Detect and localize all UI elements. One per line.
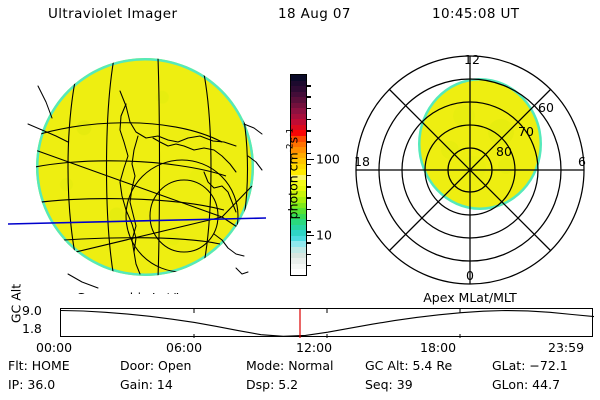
colorbar-tick-label: 100 <box>316 151 340 166</box>
status-door: Door: Open <box>120 358 191 373</box>
status-glon: GLon: 44.7 <box>492 377 560 392</box>
apex-polar-panel[interactable]: 12 18 6 0 60 70 80 Apex MLat/MLT <box>346 46 594 294</box>
colorbar-minor-tick <box>307 209 311 210</box>
colorbar-minor-tick <box>307 164 311 165</box>
status-dsp: Dsp: 5.2 <box>246 377 298 392</box>
observation-time: 10:45:08 UT <box>432 6 519 22</box>
colorbar-minor-tick <box>307 130 311 131</box>
mlt-label-bottom: 0 <box>466 268 474 283</box>
colorbar-unit-exp1: -2 <box>285 143 295 152</box>
colorbar-minor-tick <box>307 108 311 109</box>
status-row: Flt: HOME Door: Open Mode: Normal GC Alt… <box>0 358 600 376</box>
globe-overlay <box>8 46 266 294</box>
colorbar-minor-tick <box>307 175 311 176</box>
colorbar-minor-tick <box>307 220 311 221</box>
colorbar-minor-tick <box>307 265 311 266</box>
mlt-label-right: 6 <box>578 154 586 169</box>
colorbar-major-tick <box>307 235 314 236</box>
globe-caption-label: Geographic Lat/Lon <box>8 290 266 294</box>
colorbar-major-tick <box>307 159 314 160</box>
altitude-trace-svg <box>61 309 594 338</box>
colorbar-swatch <box>291 269 306 275</box>
colorbar-minor-tick <box>307 197 311 198</box>
colorbar-minor-tick <box>307 141 311 142</box>
colorbar-unit-base: photon cm <box>286 152 301 219</box>
status-glat: GLat: −72.1 <box>492 358 568 373</box>
alt-ytick-low: 1.8 <box>22 321 42 336</box>
altitude-strip-chart[interactable] <box>60 308 593 337</box>
lat-label-60: 60 <box>538 100 554 115</box>
status-gc-alt: GC Alt: 5.4 Re <box>365 358 452 373</box>
colorbar-axis-title: photon cm-2s-1 <box>285 99 300 249</box>
polar-plot <box>346 46 594 294</box>
status-block: Flt: HOME Door: Open Mode: Normal GC Alt… <box>0 358 600 398</box>
altitude-trace <box>61 311 594 337</box>
lat-label-70: 70 <box>518 124 534 139</box>
colorbar-tick-label: 10 <box>316 227 332 242</box>
colorbar-minor-tick <box>307 85 311 86</box>
alt-xaxis-labels: 00:0006:0012:0018:0023:59 <box>0 340 600 356</box>
status-mode: Mode: Normal <box>246 358 333 373</box>
alt-xtick-label: 23:59 <box>548 340 584 355</box>
header-bar: Ultraviolet Imager 18 Aug 07 10:45:08 UT <box>0 6 600 30</box>
geographic-globe-panel[interactable]: Geographic Lat/Lon <box>8 46 266 294</box>
status-seq: Seq: 39 <box>365 377 413 392</box>
alt-xaxis-ticks <box>194 309 460 338</box>
alt-xtick-label: 00:00 <box>36 340 72 355</box>
observation-date: 18 Aug 07 <box>278 6 351 22</box>
colorbar-minor-tick <box>307 254 311 255</box>
mlt-label-top: 12 <box>464 52 480 67</box>
polar-caption-label: Apex MLat/MLT <box>346 290 594 305</box>
status-flight: Flt: HOME <box>8 358 70 373</box>
colorbar-ticks <box>307 74 315 276</box>
colorbar-minor-tick <box>307 186 311 187</box>
status-row: IP: 36.0 Gain: 14 Dsp: 5.2 Seq: 39 GLon:… <box>0 377 600 395</box>
colorbar-minor-tick <box>307 242 311 243</box>
colorbar-minor-tick <box>307 119 311 120</box>
alt-xtick-label: 12:00 <box>296 340 332 355</box>
colorbar-panel: 10010 photon cm-2s-1 <box>268 46 344 294</box>
lat-label-80: 80 <box>496 144 512 159</box>
alt-ytick-high: 9.0 <box>22 303 42 318</box>
colorbar-minor-tick <box>307 231 311 232</box>
colorbar-unit-mid: s <box>286 137 301 144</box>
status-gain: Gain: 14 <box>120 377 173 392</box>
mlt-label-left: 18 <box>354 154 370 169</box>
alt-xtick-label: 18:00 <box>420 340 456 355</box>
status-ip: IP: 36.0 <box>8 377 55 392</box>
colorbar-minor-tick <box>307 96 311 97</box>
alt-xtick-label: 06:00 <box>166 340 202 355</box>
colorbar-minor-tick <box>307 153 311 154</box>
aurora-oval-fill <box>421 81 540 208</box>
colorbar-unit-exp2: -1 <box>285 128 295 137</box>
instrument-title: Ultraviolet Imager <box>48 6 177 22</box>
